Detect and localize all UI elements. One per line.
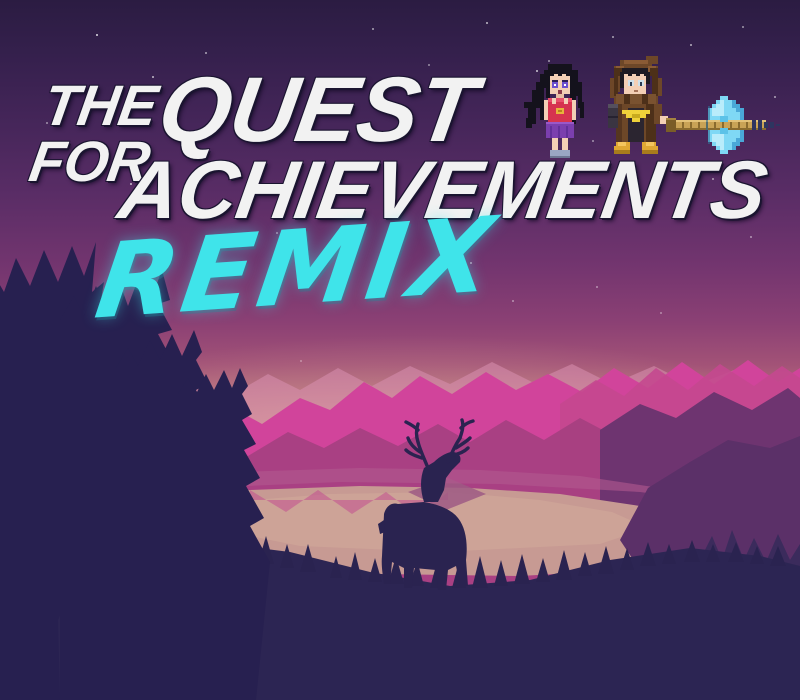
girl-hair-fringe: [548, 68, 572, 76]
game-cover-poster: THE FOR QUEST ACHIEVEMENTS REMIX: [0, 0, 800, 700]
pine-tree-group-left: [0, 242, 270, 700]
girl-arm-right: [572, 100, 576, 120]
robe-cowl: [616, 94, 656, 104]
hooded-character-sprite: [598, 56, 674, 162]
girl-character-sprite: [524, 54, 596, 162]
axe-grip: [666, 118, 676, 132]
girl-arm-left: [544, 100, 548, 120]
girl-leg-left: [552, 138, 558, 150]
battle-axe-icon: [666, 88, 782, 164]
girl-mouth: [558, 90, 562, 94]
girl-leg-right: [562, 138, 568, 150]
